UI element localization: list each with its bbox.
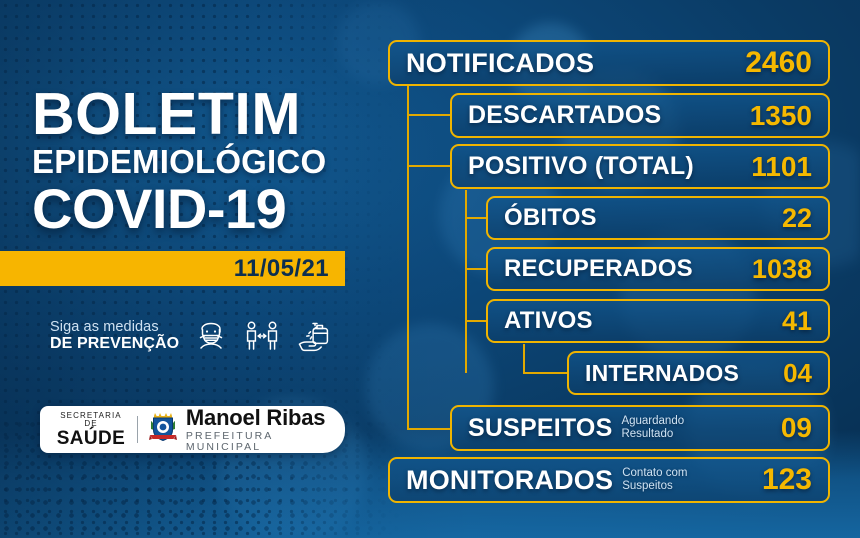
stat-value: 1350: [750, 100, 812, 132]
stat-label: INTERNADOS: [585, 360, 739, 387]
stat-sublabel: Aguardando Resultado: [621, 415, 684, 441]
stat-value: 123: [762, 463, 812, 497]
stat-label: ÓBITOS: [504, 204, 597, 232]
stat-label: POSITIVO (TOTAL): [468, 152, 694, 181]
stat-label: DESCARTADOS: [468, 101, 661, 130]
stat-box-notificados[interactable]: NOTIFICADOS 2460: [388, 40, 830, 86]
stat-box-recuperados[interactable]: RECUPERADOS 1038: [486, 247, 830, 291]
stat-box-monitorados[interactable]: MONITORADOS Contato com Suspeitos 123: [388, 457, 830, 503]
stat-label: SUSPEITOS: [468, 414, 612, 443]
stat-value: 09: [781, 412, 812, 444]
stat-value: 41: [782, 306, 812, 337]
stat-box-descartados[interactable]: DESCARTADOS 1350: [450, 93, 830, 138]
stat-value: 2460: [745, 46, 812, 80]
stat-sublabel: Contato com Suspeitos: [622, 467, 687, 493]
stat-box-obitos[interactable]: ÓBITOS 22: [486, 196, 830, 240]
stat-value: 04: [783, 358, 812, 389]
stat-label: RECUPERADOS: [504, 255, 693, 283]
stat-label: MONITORADOS: [406, 465, 613, 496]
stat-box-internados[interactable]: INTERNADOS 04: [567, 351, 830, 395]
stat-value: 22: [782, 203, 812, 234]
stat-label: NOTIFICADOS: [406, 48, 594, 79]
statistics-tree: NOTIFICADOS 2460 DESCARTADOS 1350 POSITI…: [0, 0, 860, 538]
stat-box-suspeitos[interactable]: SUSPEITOS Aguardando Resultado 09: [450, 405, 830, 451]
stat-label: ATIVOS: [504, 307, 593, 335]
stat-value: 1038: [752, 254, 812, 285]
infographic-root: BOLETIM EPIDEMIOLÓGICO COVID-19 11/05/21…: [0, 0, 860, 538]
stat-value: 1101: [751, 151, 812, 183]
stat-box-positivo-total[interactable]: POSITIVO (TOTAL) 1101: [450, 144, 830, 189]
stat-box-ativos[interactable]: ATIVOS 41: [486, 299, 830, 343]
